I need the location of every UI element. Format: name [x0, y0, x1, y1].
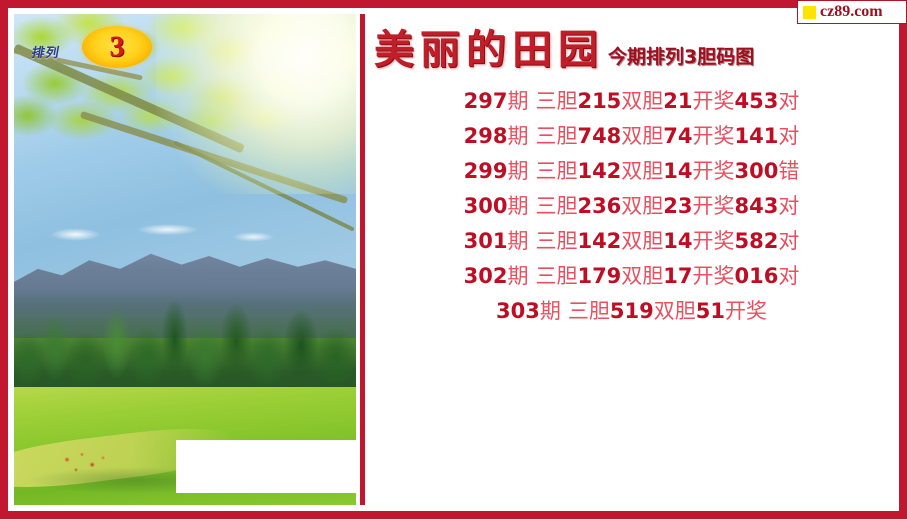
row-draw-label: 开奖: [693, 161, 735, 182]
prediction-row: 303期三胆519双胆51开奖: [370, 294, 893, 329]
prediction-row: 298期三胆748双胆74开奖141对: [370, 119, 893, 154]
row-result: 对: [778, 126, 799, 147]
prediction-row: 300期三胆236双胆23开奖843对: [370, 189, 893, 224]
row-three-dan-value: 179: [577, 266, 621, 287]
row-two-dan-label: 双胆: [621, 91, 663, 112]
row-draw-label: 开奖: [693, 196, 735, 217]
row-result: 对: [778, 196, 799, 217]
row-issue-label: 期: [507, 91, 528, 112]
row-two-dan-label: 双胆: [621, 196, 663, 217]
row-two-dan-value: 14: [663, 231, 692, 252]
content-panel: 美丽的田园 今期排列3胆码图 297期三胆215双胆21开奖453对298期三胆…: [370, 14, 893, 505]
row-two-dan-label: 双胆: [621, 161, 663, 182]
row-draw-label: 开奖: [693, 266, 735, 287]
scenery-photo: [14, 14, 356, 505]
row-two-dan-label: 双胆: [621, 231, 663, 252]
row-two-dan-value: 14: [663, 161, 692, 182]
page-title: 美丽的田园: [374, 30, 604, 70]
row-draw-value: 582: [735, 231, 779, 252]
row-issue-number: 301: [464, 231, 508, 252]
prediction-rows-list: 297期三胆215双胆21开奖453对298期三胆748双胆74开奖141对29…: [370, 84, 893, 329]
row-three-dan-value: 236: [577, 196, 621, 217]
prediction-row: 299期三胆142双胆14开奖300错: [370, 154, 893, 189]
row-two-dan-value: 51: [696, 301, 725, 322]
watermark-badge: cz89.com: [797, 0, 907, 24]
scenery-photo-panel: 排列 3: [14, 14, 356, 505]
row-issue-number: 302: [464, 266, 508, 287]
header: 美丽的田园 今期排列3胆码图: [370, 18, 893, 70]
row-result: 对: [778, 266, 799, 287]
row-issue-number: 303: [496, 301, 540, 322]
row-two-dan-value: 21: [663, 91, 692, 112]
row-draw-label: 开奖: [693, 126, 735, 147]
row-issue-label: 期: [507, 231, 528, 252]
row-draw-label: 开奖: [725, 301, 767, 322]
wildflowers: [55, 446, 115, 480]
row-three-dan-label: 三胆: [535, 126, 577, 147]
row-three-dan-value: 142: [577, 161, 621, 182]
row-two-dan-value: 17: [663, 266, 692, 287]
watermark-text: cz89.com: [820, 4, 883, 20]
row-three-dan-label: 三胆: [568, 301, 610, 322]
row-result: 对: [778, 91, 799, 112]
prediction-row: 302期三胆179双胆17开奖016对: [370, 259, 893, 294]
pailie3-logo: 排列 3: [30, 28, 150, 68]
row-draw-value: 843: [735, 196, 779, 217]
row-three-dan-label: 三胆: [535, 196, 577, 217]
page-subtitle: 今期排列3胆码图: [608, 48, 754, 67]
row-draw-value: 453: [735, 91, 779, 112]
row-three-dan-label: 三胆: [535, 91, 577, 112]
row-issue-number: 298: [464, 126, 508, 147]
sun-glare: [156, 14, 356, 194]
panel-divider: [360, 14, 365, 505]
row-three-dan-value: 142: [577, 231, 621, 252]
row-issue-number: 300: [464, 196, 508, 217]
row-issue-label: 期: [507, 196, 528, 217]
row-three-dan-label: 三胆: [535, 266, 577, 287]
prediction-row: 301期三胆142双胆14开奖582对: [370, 224, 893, 259]
row-three-dan-value: 519: [610, 301, 654, 322]
row-two-dan-label: 双胆: [654, 301, 696, 322]
logo-number: 3: [82, 26, 152, 68]
prediction-row: 297期三胆215双胆21开奖453对: [370, 84, 893, 119]
row-two-dan-value: 23: [663, 196, 692, 217]
logo-label: 排列: [30, 42, 61, 61]
row-issue-label: 期: [540, 301, 561, 322]
poster-root: 排列 3 美丽的田园 今期排列3胆码图 297期三胆215双胆21开奖453对2…: [0, 0, 907, 519]
row-issue-label: 期: [507, 161, 528, 182]
row-issue-number: 297: [464, 91, 508, 112]
row-draw-value: 300: [735, 161, 779, 182]
row-issue-number: 299: [464, 161, 508, 182]
row-draw-label: 开奖: [693, 231, 735, 252]
row-draw-value: 141: [735, 126, 779, 147]
row-three-dan-label: 三胆: [535, 161, 577, 182]
row-draw-value: 016: [735, 266, 779, 287]
watermark-square-icon: [803, 6, 816, 19]
row-result: 错: [778, 161, 799, 182]
photo-white-overlay-box: [176, 440, 356, 493]
row-issue-label: 期: [507, 126, 528, 147]
row-two-dan-label: 双胆: [621, 126, 663, 147]
row-three-dan-label: 三胆: [535, 231, 577, 252]
row-two-dan-label: 双胆: [621, 266, 663, 287]
row-issue-label: 期: [507, 266, 528, 287]
row-three-dan-value: 748: [577, 126, 621, 147]
row-two-dan-value: 74: [663, 126, 692, 147]
row-draw-label: 开奖: [693, 91, 735, 112]
row-three-dan-value: 215: [577, 91, 621, 112]
row-result: 对: [778, 231, 799, 252]
